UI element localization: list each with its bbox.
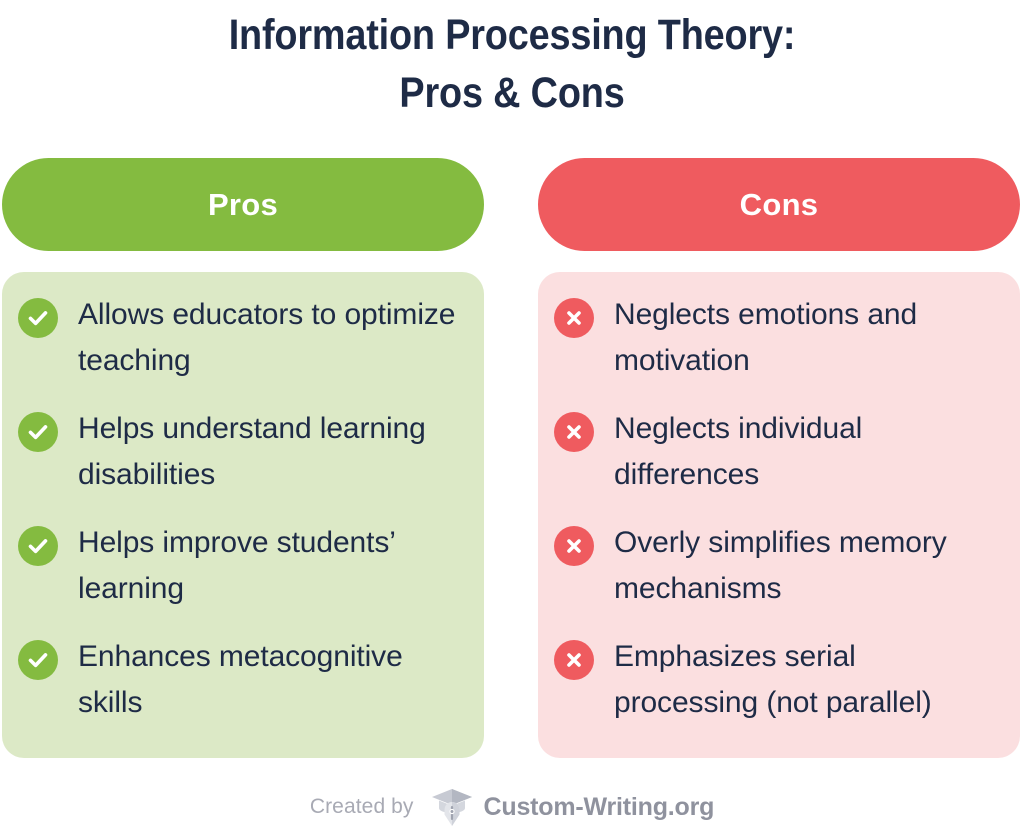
check-circle-icon: [18, 298, 58, 338]
check-circle-icon: [18, 526, 58, 566]
list-item-text: Allows educators to optimize teaching: [78, 292, 468, 384]
cons-header-pill: Cons: [538, 158, 1020, 251]
cross-circle-icon: [554, 526, 594, 566]
cons-column: Cons Neglects emotions and motivation: [538, 158, 1020, 758]
check-circle-icon: [18, 412, 58, 452]
pros-cons-columns: Pros Allows educators to optimize teachi…: [0, 158, 1024, 758]
list-item: Neglects emotions and motivation: [554, 292, 1004, 384]
list-item-text: Helps improve students’ learning: [78, 520, 468, 612]
footer-created-by-label: Created by: [310, 795, 414, 819]
list-item-text: Enhances metacognitive skills: [78, 634, 468, 726]
pros-header-pill: Pros: [2, 158, 484, 251]
list-item: Neglects individual differences: [554, 406, 1004, 498]
check-circle-icon: [18, 640, 58, 680]
list-item: Overly simplifies memory mechanisms: [554, 520, 1004, 612]
page-title-line-1: Information Processing Theory:: [61, 6, 962, 64]
list-item-text: Neglects emotions and motivation: [614, 292, 1004, 384]
list-item-text: Emphasizes serial processing (not parall…: [614, 634, 1004, 726]
list-item: Enhances metacognitive skills: [18, 634, 468, 726]
list-item: Allows educators to optimize teaching: [18, 292, 468, 384]
cons-header-label: Cons: [740, 187, 819, 223]
pros-header-label: Pros: [208, 187, 278, 223]
footer-brand-label: Custom-Writing.org: [484, 793, 715, 822]
list-item-text: Helps understand learning disabilities: [78, 406, 468, 498]
cross-circle-icon: [554, 412, 594, 452]
list-item-text: Neglects individual differences: [614, 406, 1004, 498]
cross-circle-icon: [554, 640, 594, 680]
graduation-cap-pen-nib-icon: [430, 787, 474, 827]
list-item: Helps understand learning disabilities: [18, 406, 468, 498]
cons-panel: Neglects emotions and motivation Neglect…: [538, 272, 1020, 758]
list-item: Emphasizes serial processing (not parall…: [554, 634, 1004, 726]
list-item-text: Overly simplifies memory mechanisms: [614, 520, 1004, 612]
page-title: Information Processing Theory: Pros & Co…: [61, 6, 962, 122]
cons-list: Neglects emotions and motivation Neglect…: [554, 292, 1004, 726]
pros-list: Allows educators to optimize teaching He…: [18, 292, 468, 726]
footer-credit: Created by Custom-Writing.org: [0, 783, 1024, 831]
pros-panel: Allows educators to optimize teaching He…: [2, 272, 484, 758]
page-title-line-2: Pros & Cons: [61, 64, 962, 122]
cross-circle-icon: [554, 298, 594, 338]
list-item: Helps improve students’ learning: [18, 520, 468, 612]
pros-column: Pros Allows educators to optimize teachi…: [2, 158, 484, 758]
